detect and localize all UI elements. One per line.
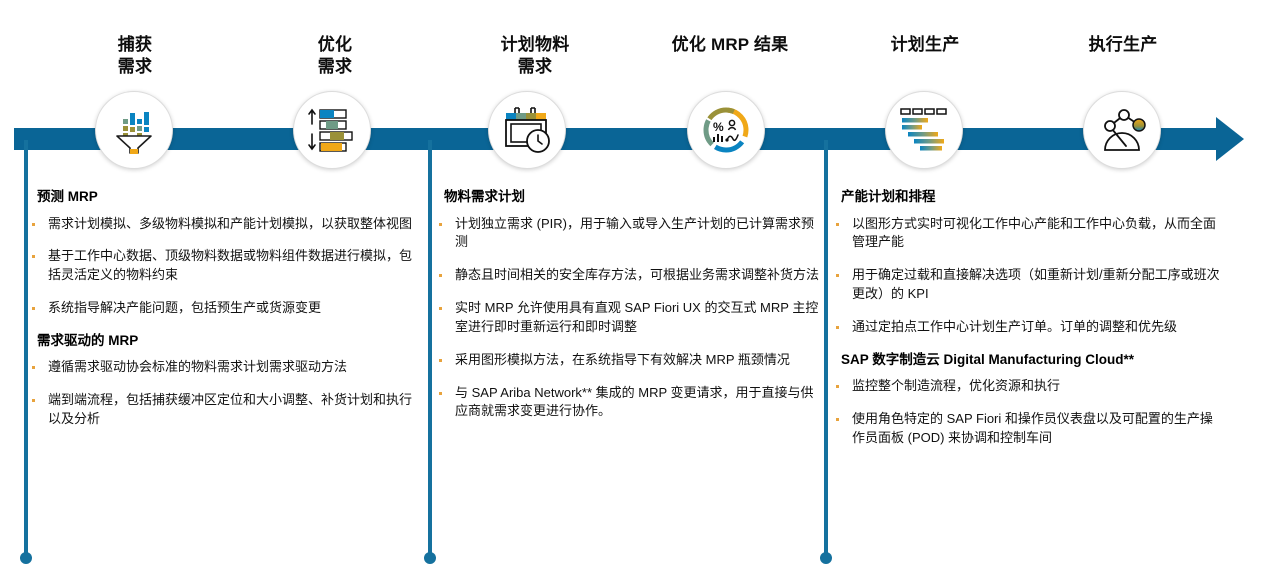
divider-end-dot bbox=[820, 552, 832, 564]
group-heading: 预测 MRP bbox=[37, 188, 423, 206]
group-heading: 需求驱动的 MRP bbox=[37, 332, 423, 350]
list-item: 遵循需求驱动协会标准的物料需求计划需求驱动方法 bbox=[18, 358, 423, 377]
list-item: 以图形方式实时可视化工作中心产能和工作中心负载，从而全面管理产能 bbox=[822, 215, 1222, 253]
stage-title-capture-demand: 捕获 需求 bbox=[75, 34, 195, 79]
stage-icon-capture-demand[interactable] bbox=[95, 91, 173, 169]
list-item: 基于工作中心数据、顶级物料数据或物料组件数据进行模拟，包括灵活定义的物料约束 bbox=[18, 247, 423, 285]
group-heading: 物料需求计划 bbox=[444, 188, 825, 206]
stage-icon-plan-production[interactable] bbox=[885, 91, 963, 169]
list-item: 与 SAP Ariba Network** 集成的 MRP 变更请求，用于直接与… bbox=[425, 384, 825, 422]
svg-text:%: % bbox=[713, 120, 724, 134]
bullet-list: 需求计划模拟、多级物料模拟和产能计划模拟，以获取整体视图 基于工作中心数据、顶级… bbox=[18, 215, 423, 318]
stage-title-execute-production: 执行生产 bbox=[1053, 34, 1193, 56]
bullet-list: 以图形方式实时可视化工作中心产能和工作中心负载，从而全面管理产能 用于确定过载和… bbox=[822, 215, 1222, 337]
list-item: 通过定拍点工作中心计划生产订单。订单的调整和优先级 bbox=[822, 318, 1222, 337]
column-material: 物料需求计划 计划独立需求 (PIR)，用于输入或导入生产计划的已计算需求预测 … bbox=[425, 188, 825, 435]
list-item: 使用角色特定的 SAP Fiori 和操作员仪表盘以及可配置的生产操作员面板 (… bbox=[822, 410, 1222, 448]
bullet-list: 遵循需求驱动协会标准的物料需求计划需求驱动方法 端到端流程，包括捕获缓冲区定位和… bbox=[18, 358, 423, 429]
stage-icon-plan-material[interactable] bbox=[488, 91, 566, 169]
list-item: 用于确定过载和直接解决选项（如重新计划/重新分配工序或班次更改）的 KPI bbox=[822, 266, 1222, 304]
list-item: 系统指导解决产能问题，包括预生产或货源变更 bbox=[18, 299, 423, 318]
list-item: 静态且时间相关的安全库存方法，可根据业务需求调整补货方法 bbox=[425, 266, 825, 285]
stage-title-optimize-demand: 优化 需求 bbox=[275, 34, 395, 79]
stage-icon-execute-production[interactable] bbox=[1083, 91, 1161, 169]
funnel-analytics-icon bbox=[109, 105, 159, 155]
stage-icon-optimize-demand[interactable] bbox=[293, 91, 371, 169]
group-heading: SAP 数字制造云 Digital Manufacturing Cloud** bbox=[841, 351, 1222, 369]
stage-title-plan-production: 计划生产 bbox=[855, 34, 995, 56]
divider-end-dot bbox=[424, 552, 436, 564]
list-item: 采用图形模拟方法，在系统指导下有效解决 MRP 瓶颈情况 bbox=[425, 351, 825, 370]
prioritize-bars-icon bbox=[306, 106, 358, 154]
infographic-canvas: 捕获 需求 优化 需求 计划物料 需求 优化 MRP 结果 计划生产 执行生产 bbox=[0, 0, 1269, 584]
list-item: 需求计划模拟、多级物料模拟和产能计划模拟，以获取整体视图 bbox=[18, 215, 423, 234]
bullet-list: 监控整个制造流程，优化资源和执行 使用角色特定的 SAP Fiori 和操作员仪… bbox=[822, 377, 1222, 448]
gantt-schedule-icon bbox=[898, 106, 950, 154]
column-demand: 预测 MRP 需求计划模拟、多级物料模拟和产能计划模拟，以获取整体视图 基于工作… bbox=[18, 188, 423, 443]
stage-title-optimize-mrp: 优化 MRP 结果 bbox=[640, 34, 820, 56]
list-item: 端到端流程，包括捕获缓冲区定位和大小调整、补货计划和执行以及分析 bbox=[18, 391, 423, 429]
column-production: 产能计划和排程 以图形方式实时可视化工作中心产能和工作中心负载，从而全面管理产能… bbox=[822, 188, 1222, 462]
group-heading: 产能计划和排程 bbox=[841, 188, 1222, 206]
list-item: 实时 MRP 允许使用具有直观 SAP Fiori UX 的交互式 MRP 主控… bbox=[425, 299, 825, 337]
process-arrow-head bbox=[1216, 117, 1244, 161]
list-item: 计划独立需求 (PIR)，用于输入或导入生产计划的已计算需求预测 bbox=[425, 215, 825, 253]
robot-arm-icon bbox=[1096, 106, 1148, 154]
stage-icon-optimize-mrp[interactable]: % bbox=[687, 91, 765, 169]
kpi-donut-icon: % bbox=[700, 104, 752, 156]
process-arrow-bar bbox=[14, 128, 1224, 150]
list-item: 监控整个制造流程，优化资源和执行 bbox=[822, 377, 1222, 396]
calendar-clock-icon bbox=[502, 106, 552, 154]
stage-title-plan-material: 计划物料 需求 bbox=[465, 34, 605, 79]
bullet-list: 计划独立需求 (PIR)，用于输入或导入生产计划的已计算需求预测 静态且时间相关… bbox=[425, 215, 825, 422]
divider-end-dot bbox=[20, 552, 32, 564]
